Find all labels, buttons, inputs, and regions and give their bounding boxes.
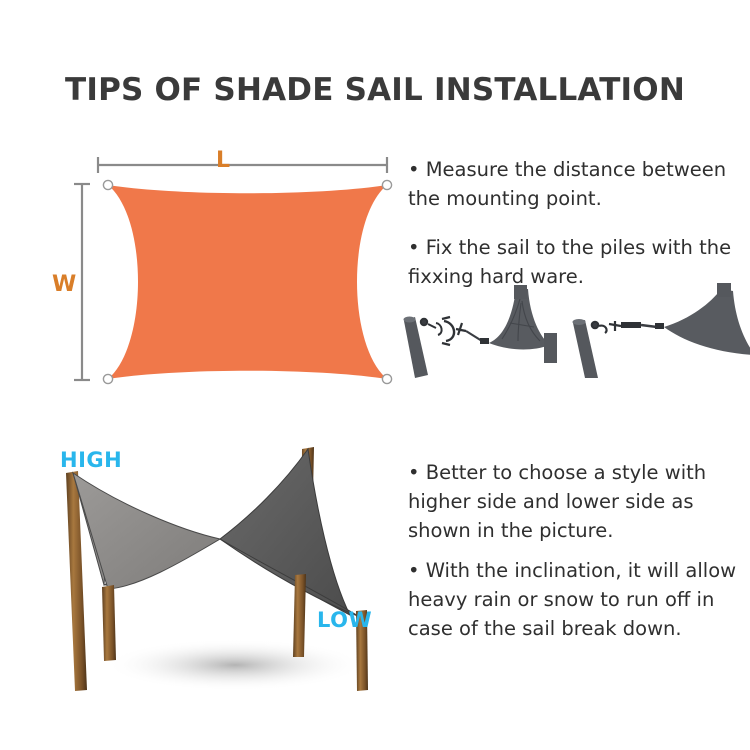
tip-style-line-2: higher side and lower side as — [408, 487, 750, 516]
pole-shackle-sail-corner-detail — [565, 283, 750, 378]
shackle-chain-icon — [592, 321, 621, 333]
tension-rope — [641, 325, 657, 327]
high-side-label: HIGH — [60, 448, 122, 472]
shade-sail-dark — [220, 449, 350, 615]
tip-measure-line-1: • Measure the distance between — [408, 155, 750, 184]
pole-turnbuckle-sail-corner-detail — [398, 283, 578, 378]
infographic-page: TIPS OF SHADE SAIL INSTALLATION L W • Me… — [0, 0, 750, 750]
turnbuckle-body-icon — [621, 322, 641, 328]
turnbuckle-hardware-icon — [421, 317, 466, 345]
length-dimension-line — [98, 157, 387, 173]
low-side-label: LOW — [317, 608, 372, 632]
rectangular-sail-diagram — [40, 140, 400, 405]
post-short-middle — [293, 574, 306, 657]
tip-inclination: • With the inclination, it will allow he… — [408, 556, 750, 643]
ground-shadow — [105, 639, 365, 691]
width-dimension-line — [74, 184, 90, 380]
page-title: TIPS OF SHADE SAIL INSTALLATION — [0, 72, 750, 108]
rope-clamp-icon — [480, 338, 489, 344]
tip-fix-line-1: • Fix the sail to the piles with the — [408, 233, 750, 262]
sail-body — [108, 185, 387, 379]
tip-inclination-line-1: • With the inclination, it will allow — [408, 556, 750, 585]
tip-inclination-line-3: case of the sail break down. — [408, 614, 750, 643]
tension-rope — [466, 331, 482, 341]
tip-style-line-1: • Better to choose a style with — [408, 458, 750, 487]
length-label: L — [216, 148, 230, 173]
rope-clamp-icon — [655, 323, 664, 329]
shade-sail-light-lower — [73, 473, 220, 589]
width-label: W — [52, 272, 76, 297]
tip-measure: • Measure the distance between the mount… — [408, 155, 750, 213]
sail-corner-panel — [664, 289, 750, 355]
sail-corner-tab-side — [544, 333, 557, 363]
tip-style: • Better to choose a style with higher s… — [408, 458, 750, 545]
twin-sail-post-diagram — [30, 435, 420, 705]
sail-corner-tab-top — [514, 285, 527, 299]
tip-style-line-3: shown in the picture. — [408, 516, 750, 545]
tip-measure-line-2: the mounting point. — [408, 184, 750, 213]
post-short-left — [102, 585, 116, 661]
sail-corner-tab-top — [717, 283, 731, 297]
tip-inclination-line-2: heavy rain or snow to run off in — [408, 585, 750, 614]
